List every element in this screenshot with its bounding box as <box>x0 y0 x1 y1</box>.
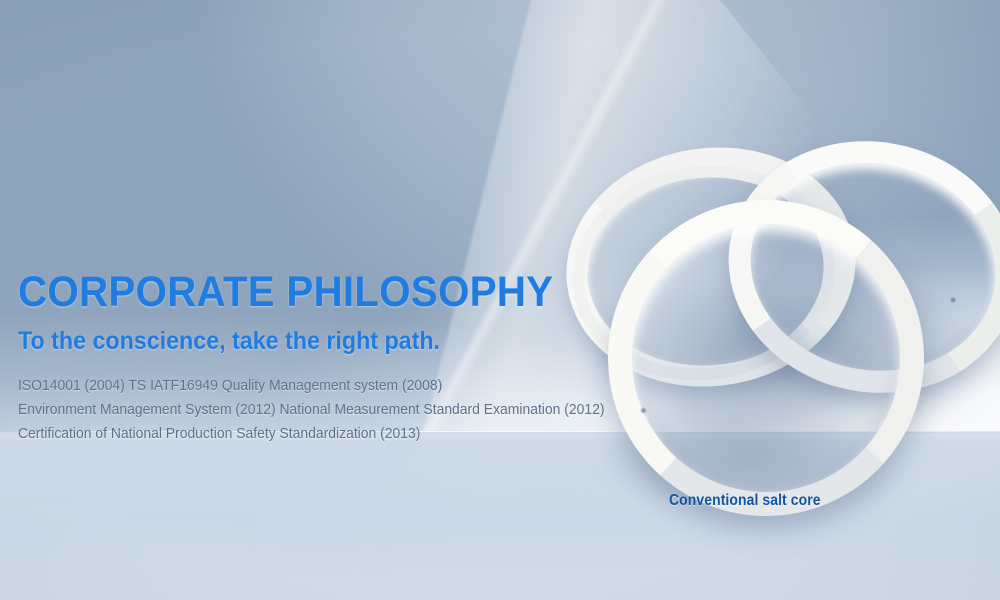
certification-item: Certification of National Production Saf… <box>18 422 613 446</box>
corporate-philosophy-banner: CORPORATE PHILOSOPHY To the conscience, … <box>0 0 1000 600</box>
philosophy-text-block: CORPORATE PHILOSOPHY To the conscience, … <box>18 268 638 446</box>
ring-pinhole-icon <box>951 298 956 303</box>
product-caption: Conventional salt core <box>669 492 821 510</box>
certification-item: Environment Management System (2012) Nat… <box>18 398 613 422</box>
certification-item: ISO14001 (2004) TS IATF16949 Quality Man… <box>18 374 613 398</box>
certification-list: ISO14001 (2004) TS IATF16949 Quality Man… <box>18 374 638 446</box>
page-subtitle: To the conscience, take the right path. <box>18 326 595 356</box>
ring-gloss-highlight <box>625 217 907 499</box>
page-title: CORPORATE PHILOSOPHY <box>18 268 601 316</box>
ring-pinhole-icon <box>641 408 645 412</box>
